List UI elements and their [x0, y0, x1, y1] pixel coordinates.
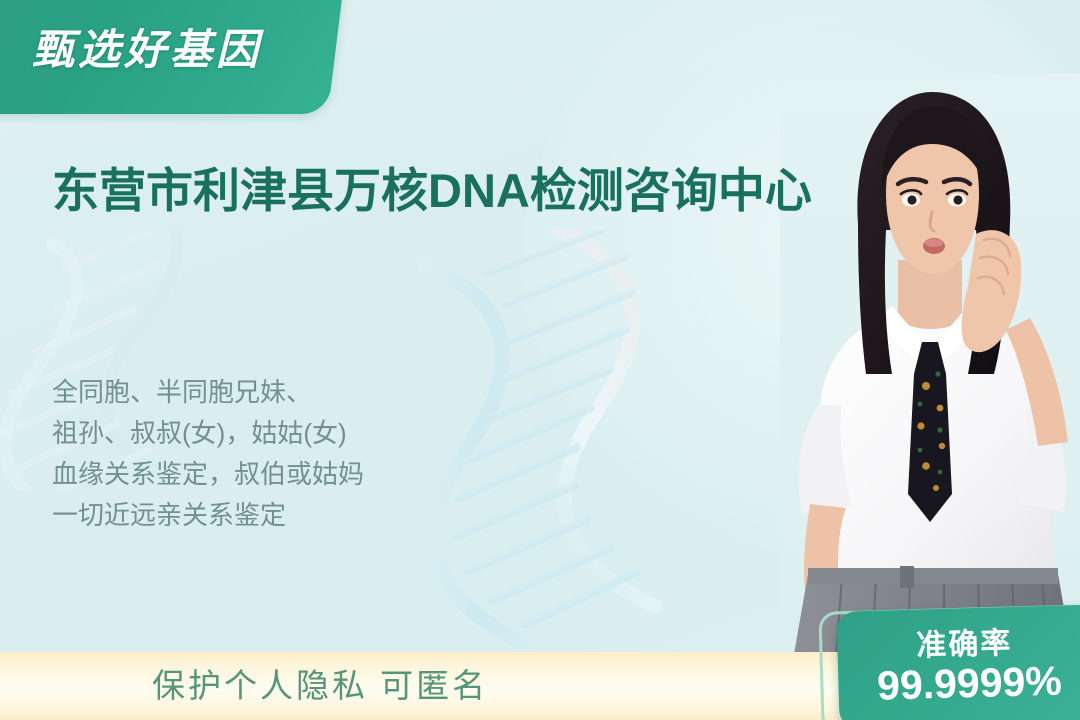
description-line: 祖孙、叔叔(女)，姑姑(女) [52, 413, 612, 454]
accuracy-value: 99.9999% [838, 656, 1080, 711]
description-block: 全同胞、半同胞兄妹、 祖孙、叔叔(女)，姑姑(女) 血缘关系鉴定，叔伯或姑妈 一… [52, 372, 612, 536]
accuracy-badge-panel: 准确率 99.9999% [836, 604, 1080, 720]
model-photo [780, 74, 1080, 654]
privacy-tagline: 保护个人隐私 可匿名 [152, 664, 488, 708]
brand-banner-inner: 甄选好基因 [0, 0, 344, 114]
accuracy-badge: 准确率 99.9999% [818, 602, 1080, 720]
brand-banner: 甄选好基因 [0, 0, 344, 114]
title-block: 东营市利津县万核DNA检测咨询中心 [52, 158, 822, 225]
description-line: 血缘关系鉴定，叔伯或姑妈 [52, 454, 612, 495]
brand-banner-text: 甄选好基因 [32, 16, 262, 77]
description-line: 一切近远亲关系鉴定 [52, 495, 612, 536]
description-line: 全同胞、半同胞兄妹、 [52, 372, 612, 413]
page-title: 东营市利津县万核DNA检测咨询中心 [52, 158, 822, 225]
promo-banner-root: 甄选好基因 东营市利津县万核DNA检测咨询中心 全同胞、半同胞兄妹、 祖孙、叔叔… [0, 0, 1080, 720]
